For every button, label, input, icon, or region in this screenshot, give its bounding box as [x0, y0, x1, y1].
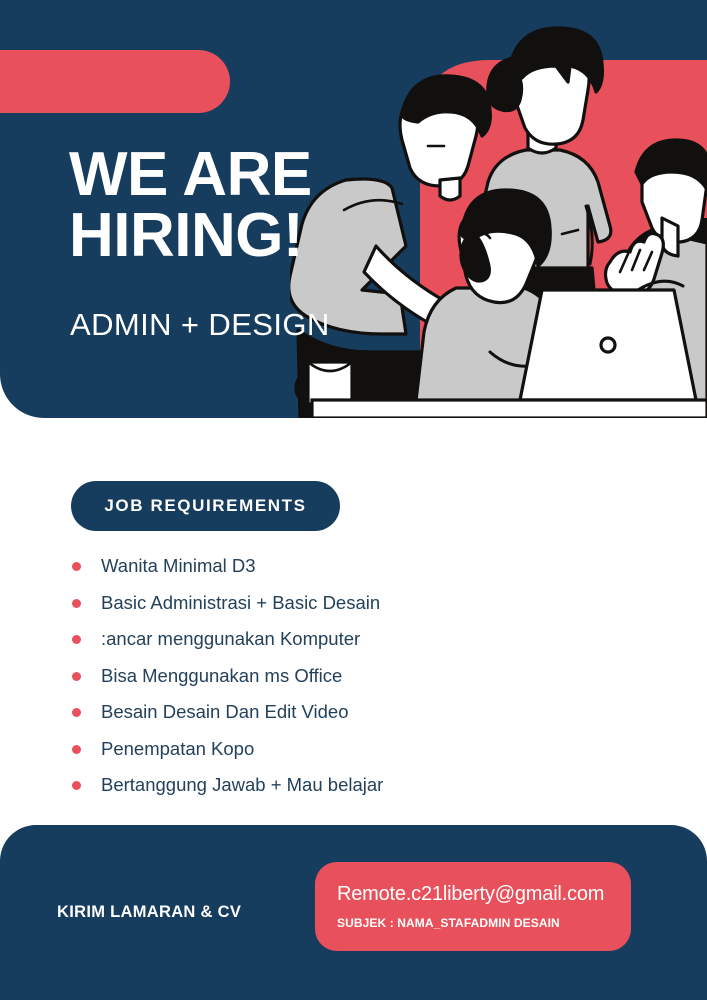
- bullet-dot-icon: [72, 599, 81, 608]
- list-item: Basic Administrasi + Basic Desain: [71, 585, 631, 622]
- page-subtitle: ADMIN + DESIGN: [70, 307, 330, 343]
- job-requirements-badge: JOB REQUIREMENTS: [71, 481, 340, 531]
- job-poster: WE ARE HIRING! ADMIN + DESIGN JOB REQUIR…: [0, 0, 707, 1000]
- poster-header: WE ARE HIRING! ADMIN + DESIGN: [0, 0, 707, 418]
- list-item-label: Bertanggung Jawab + Mau belajar: [101, 774, 383, 795]
- apply-instruction-label: KIRIM LAMARAN & CV: [57, 903, 241, 922]
- bullet-dot-icon: [72, 672, 81, 681]
- bullet-dot-icon: [72, 708, 81, 717]
- list-item-label: :ancar menggunakan Komputer: [101, 628, 360, 649]
- list-item: Bertanggung Jawab + Mau belajar: [71, 767, 631, 804]
- list-item-label: Bisa Menggunakan ms Office: [101, 665, 342, 686]
- list-item: Penempatan Kopo: [71, 731, 631, 768]
- list-item-label: Wanita Minimal D3: [101, 555, 256, 576]
- team-around-laptop-illustration: [290, 0, 707, 418]
- list-item-label: Penempatan Kopo: [101, 738, 254, 759]
- contact-box: Remote.c21liberty@gmail.com SUBJEK : NAM…: [315, 862, 631, 951]
- list-item-label: Basic Administrasi + Basic Desain: [101, 592, 380, 613]
- page-title: WE ARE HIRING!: [69, 145, 312, 267]
- bullet-dot-icon: [72, 745, 81, 754]
- contact-subject-line: SUBJEK : NAMA_STAFADMIN DESAIN: [337, 916, 560, 930]
- decorative-red-pill-bar: [0, 50, 230, 113]
- list-item: Wanita Minimal D3: [71, 548, 631, 585]
- list-item: Besain Desain Dan Edit Video: [71, 694, 631, 731]
- bullet-dot-icon: [72, 781, 81, 790]
- list-item: Bisa Menggunakan ms Office: [71, 658, 631, 695]
- list-item: :ancar menggunakan Komputer: [71, 621, 631, 658]
- bullet-dot-icon: [72, 562, 81, 571]
- contact-email[interactable]: Remote.c21liberty@gmail.com: [337, 883, 604, 906]
- bullet-dot-icon: [72, 635, 81, 644]
- job-requirements-list: Wanita Minimal D3 Basic Administrasi + B…: [71, 548, 631, 804]
- list-item-label: Besain Desain Dan Edit Video: [101, 701, 349, 722]
